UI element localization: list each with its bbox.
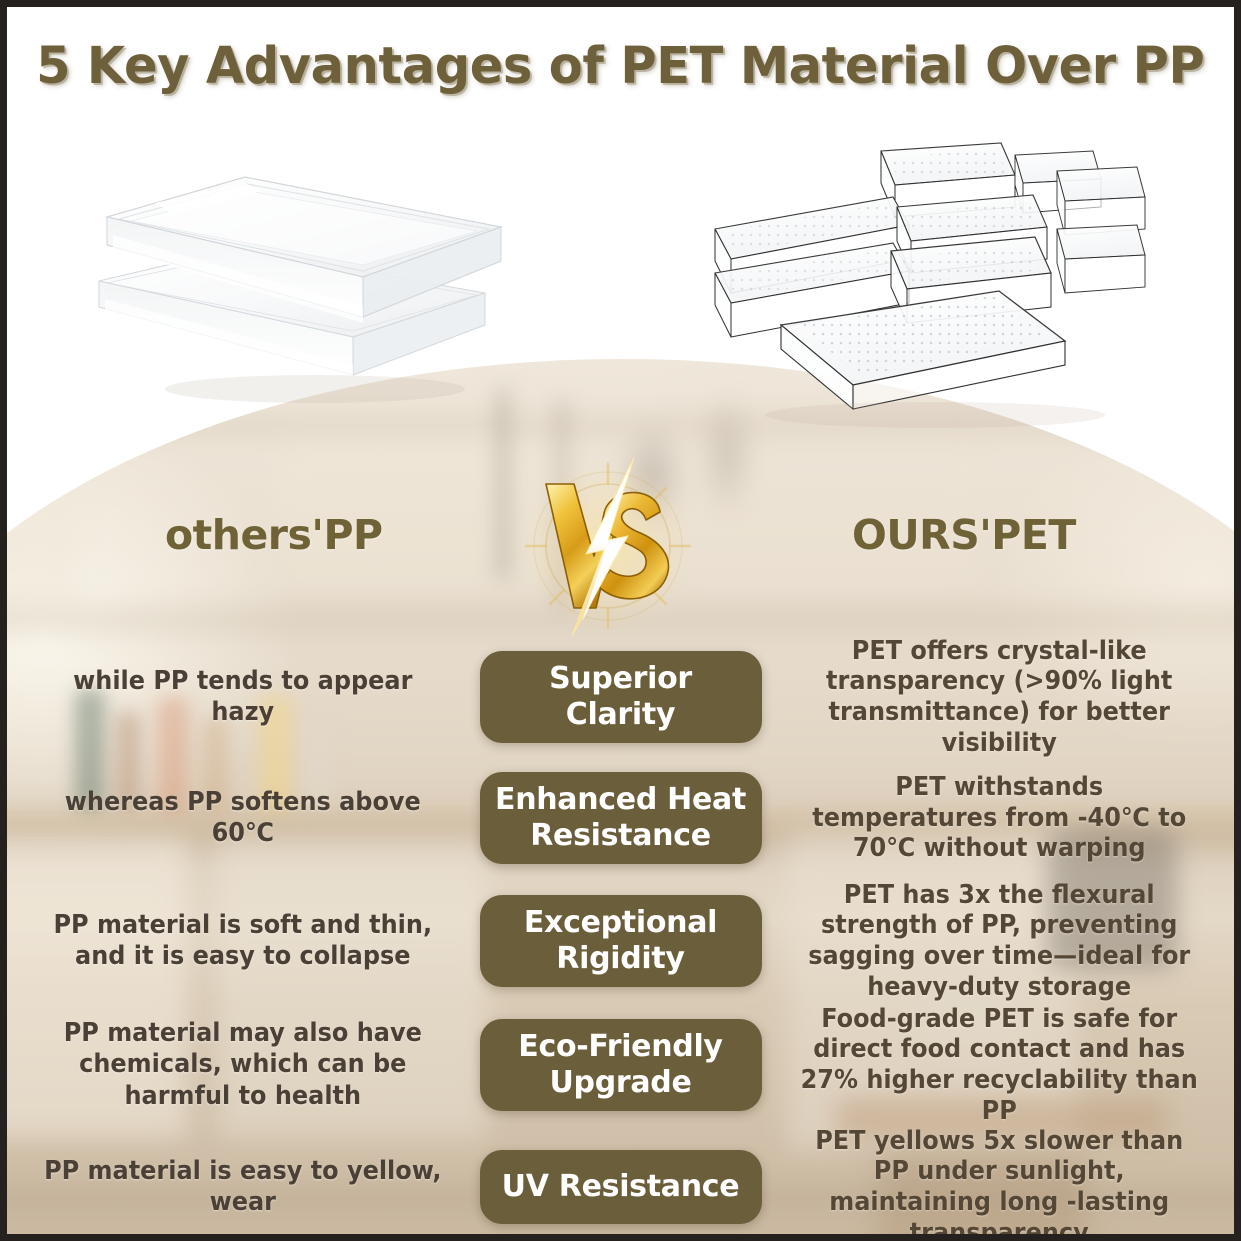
feature-pill[interactable]: UV Resistance xyxy=(480,1150,762,1224)
pet-benefit-text: PET has 3x the flexural strength of PP, … xyxy=(775,880,1198,1002)
column-header-ours-pet: OURS'PET xyxy=(852,511,1076,559)
feature-rows: while PP tends to appear hazy Superior C… xyxy=(7,637,1234,1234)
feature-row: PP material is soft and thin, and it is … xyxy=(7,879,1234,1003)
page-title: 5 Key Advantages of PET Material Over PP xyxy=(36,37,1204,96)
feature-pill[interactable]: Exceptional Rigidity xyxy=(480,895,762,987)
feature-pill[interactable]: Eco-Friendly Upgrade xyxy=(480,1019,762,1111)
infographic-poster: 5 Key Advantages of PET Material Over PP xyxy=(0,0,1241,1241)
title-band: 5 Key Advantages of PET Material Over PP xyxy=(7,7,1234,125)
pet-benefit-text: PET withstands temperatures from -40℃ to… xyxy=(775,772,1198,864)
feature-row: while PP tends to appear hazy Superior C… xyxy=(7,637,1234,757)
plant-shape xyxy=(7,359,17,509)
vs-badge xyxy=(512,450,704,642)
pet-organizer-bin-set-image xyxy=(685,133,1175,433)
pp-container-stack-image xyxy=(85,131,515,431)
feature-row: whereas PP softens above 60℃ Enhanced He… xyxy=(7,757,1234,879)
pet-benefit-text: Food-grade PET is safe for direct food c… xyxy=(775,1004,1198,1126)
poster-canvas: 5 Key Advantages of PET Material Over PP xyxy=(7,7,1234,1234)
upper-cabinet-left-shape xyxy=(7,419,79,609)
pp-drawback-text: PP material is easy to yellow, wear xyxy=(43,1156,466,1218)
pp-drawback-text: PP material is soft and thin, and it is … xyxy=(43,910,466,972)
column-header-others-pp: others'PP xyxy=(165,511,383,559)
feature-pill[interactable]: Enhanced Heat Resistance xyxy=(480,772,762,864)
feature-pill[interactable]: Superior Clarity xyxy=(480,651,762,743)
pet-benefit-text: PET offers crystal-like transparency (>9… xyxy=(775,636,1198,758)
pp-drawback-text: whereas PP softens above 60℃ xyxy=(43,787,466,849)
pet-benefit-text: PET yellows 5x slower than PP under sunl… xyxy=(775,1126,1198,1234)
pp-drawback-text: while PP tends to appear hazy xyxy=(43,666,466,728)
pp-drawback-text: PP material may also have chemicals, whi… xyxy=(43,1018,466,1111)
feature-row: PP material is easy to yellow, wear UV R… xyxy=(7,1127,1234,1234)
feature-row: PP material may also have chemicals, whi… xyxy=(7,1003,1234,1127)
pet-bin xyxy=(1057,225,1145,293)
